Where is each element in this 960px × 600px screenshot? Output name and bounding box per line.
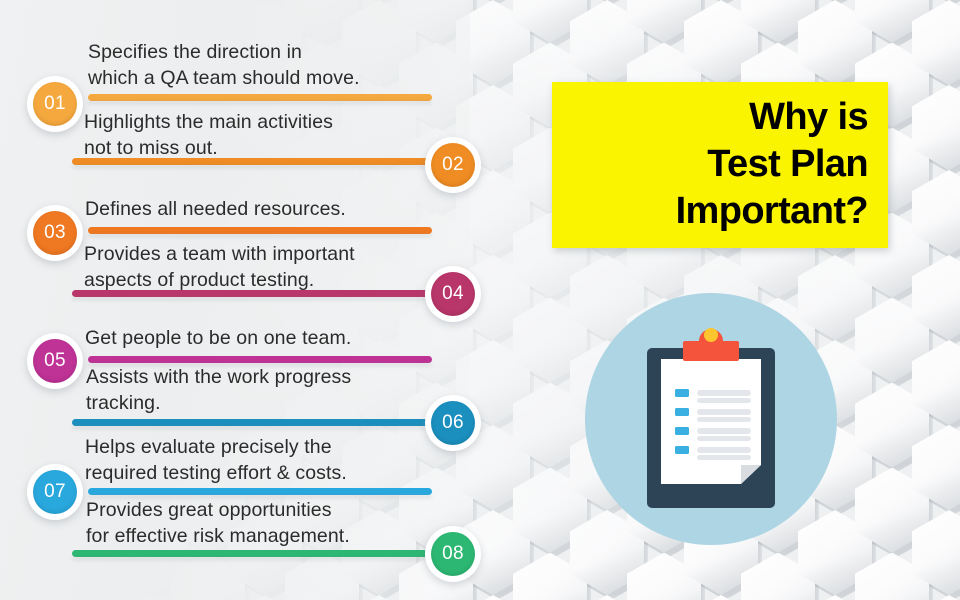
item-text: Get people to be on one team. — [85, 326, 351, 352]
item-badge-04[interactable]: 04 — [425, 266, 481, 322]
item-text: Defines all needed resources. — [85, 197, 346, 223]
clipboard-illustration — [585, 293, 837, 545]
badge-number: 02 — [431, 143, 475, 187]
item-text: Highlights the main activities not to mi… — [84, 110, 333, 161]
badge-number: 07 — [33, 470, 77, 514]
item-badge-03[interactable]: 03 — [27, 205, 83, 261]
item-badge-07[interactable]: 07 — [27, 464, 83, 520]
badge-number: 05 — [33, 339, 77, 383]
item-bar — [72, 158, 432, 165]
item-text: Provides a team with important aspects o… — [84, 242, 355, 293]
item-bar — [72, 419, 432, 426]
badge-number: 08 — [431, 532, 475, 576]
item-bar — [88, 356, 432, 363]
page-title: Why isTest PlanImportant? — [676, 94, 868, 235]
item-badge-02[interactable]: 02 — [425, 137, 481, 193]
item-badge-08[interactable]: 08 — [425, 526, 481, 582]
item-text: Assists with the work progress tracking. — [86, 365, 351, 416]
item-bar — [88, 227, 432, 234]
clip-knob — [704, 328, 718, 342]
item-bar — [72, 550, 432, 557]
badge-number: 04 — [431, 272, 475, 316]
clipboard-svg — [585, 293, 837, 545]
item-badge-05[interactable]: 05 — [27, 333, 83, 389]
badge-number: 03 — [33, 211, 77, 255]
badge-number: 06 — [431, 401, 475, 445]
item-text: Specifies the direction in which a QA te… — [88, 40, 360, 91]
item-bar — [88, 94, 432, 101]
item-bar — [88, 488, 432, 495]
item-bar — [72, 290, 428, 297]
title-block: Why isTest PlanImportant? — [552, 82, 888, 248]
item-badge-06[interactable]: 06 — [425, 395, 481, 451]
item-badge-01[interactable]: 01 — [27, 76, 83, 132]
item-text: Helps evaluate precisely the required te… — [85, 435, 347, 486]
badge-number: 01 — [33, 82, 77, 126]
item-text: Provides great opportunities for effecti… — [86, 498, 350, 549]
clipboard-clip — [683, 341, 739, 361]
infographic-canvas: Specifies the direction in which a QA te… — [0, 0, 960, 600]
